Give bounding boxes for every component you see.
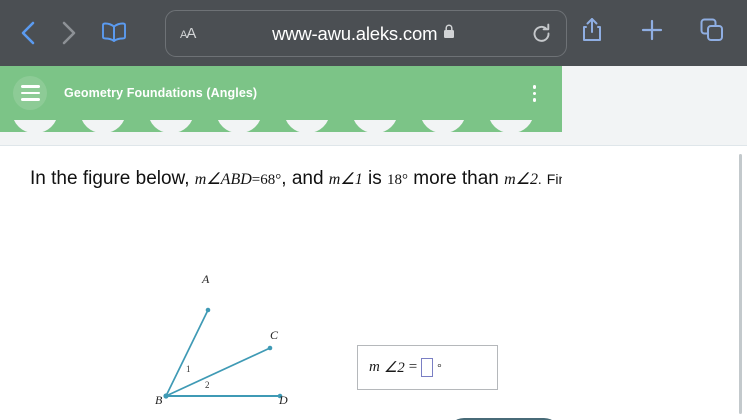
- math-m-angle-1: m∠1: [329, 171, 363, 188]
- page-title: Geometry Foundations (Angles): [64, 86, 257, 100]
- screenshot-root: AA www-awu.aleks.com: [0, 0, 747, 420]
- prompt-period: .: [538, 173, 542, 188]
- degree-symbol: °: [437, 362, 441, 374]
- tabs-icon: [699, 17, 725, 48]
- vertical-scrollbar[interactable]: [739, 154, 742, 414]
- prompt-and: and: [292, 168, 324, 189]
- answer-angle-2: ∠2: [384, 358, 405, 377]
- back-button[interactable]: [8, 11, 48, 55]
- url-display: www-awu.aleks.com: [195, 23, 532, 45]
- bookmarks-button[interactable]: [94, 11, 134, 55]
- answer-m: m: [369, 359, 380, 376]
- book-icon: [101, 21, 127, 45]
- browser-right-actions: [573, 8, 739, 56]
- reload-button[interactable]: [532, 23, 552, 45]
- hamburger-icon[interactable]: [13, 76, 47, 110]
- ray-ba: [166, 310, 208, 396]
- label-angle-1: 1: [186, 364, 191, 374]
- point-a-dot: [206, 308, 211, 313]
- label-point-a: A: [202, 272, 209, 287]
- tabs-button[interactable]: [693, 8, 731, 56]
- share-button[interactable]: [573, 8, 611, 56]
- answer-equals: =: [409, 359, 417, 376]
- label-point-b: B: [155, 393, 162, 408]
- math-value-diff: 18°: [387, 172, 408, 188]
- chevron-left-icon: [18, 19, 38, 47]
- answer-input-box[interactable]: m ∠2 = °: [357, 345, 498, 390]
- ray-bc: [166, 348, 270, 396]
- scalloped-tab-strip: [0, 120, 562, 140]
- label-point-c: C: [270, 328, 278, 343]
- forward-button[interactable]: [48, 11, 88, 55]
- address-bar[interactable]: AA www-awu.aleks.com: [165, 10, 567, 57]
- problem-statement: In the figure below, m∠ABD=68°, and m∠1 …: [30, 168, 617, 190]
- math-value-abd: 68°: [260, 172, 281, 188]
- prompt-is: is: [368, 168, 382, 189]
- label-angle-2: 2: [205, 380, 210, 390]
- share-icon: [581, 16, 603, 49]
- angle-figure: A B C D 1 2: [150, 286, 310, 420]
- prompt-comma: ,: [281, 168, 286, 189]
- answer-expression: m ∠2 = °: [369, 358, 442, 377]
- math-m-angle-2: m∠2: [504, 171, 538, 188]
- point-b-dot: [163, 393, 168, 398]
- prompt-more-than: more than: [413, 168, 499, 189]
- web-page: Geometry Foundations (Angles) Español ✓ …: [0, 66, 747, 420]
- point-c-dot: [268, 346, 273, 351]
- text-size-button[interactable]: AA: [180, 25, 195, 42]
- label-point-d: D: [279, 393, 288, 408]
- url-text: www-awu.aleks.com: [272, 23, 437, 45]
- browser-toolbar: AA www-awu.aleks.com: [0, 0, 747, 66]
- answer-value-input[interactable]: [421, 358, 433, 377]
- course-header: Geometry Foundations (Angles): [0, 66, 562, 120]
- math-equals: =: [252, 172, 260, 188]
- lock-icon: [443, 24, 455, 44]
- prompt-part1: In the figure below,: [30, 168, 190, 189]
- plus-icon: [640, 18, 664, 47]
- page-right-gutter: [562, 146, 747, 420]
- new-tab-button[interactable]: [633, 8, 671, 56]
- chevron-right-icon: [58, 19, 78, 47]
- math-m-angle-abd: m∠ABD: [195, 171, 252, 188]
- more-options-icon[interactable]: [533, 85, 537, 102]
